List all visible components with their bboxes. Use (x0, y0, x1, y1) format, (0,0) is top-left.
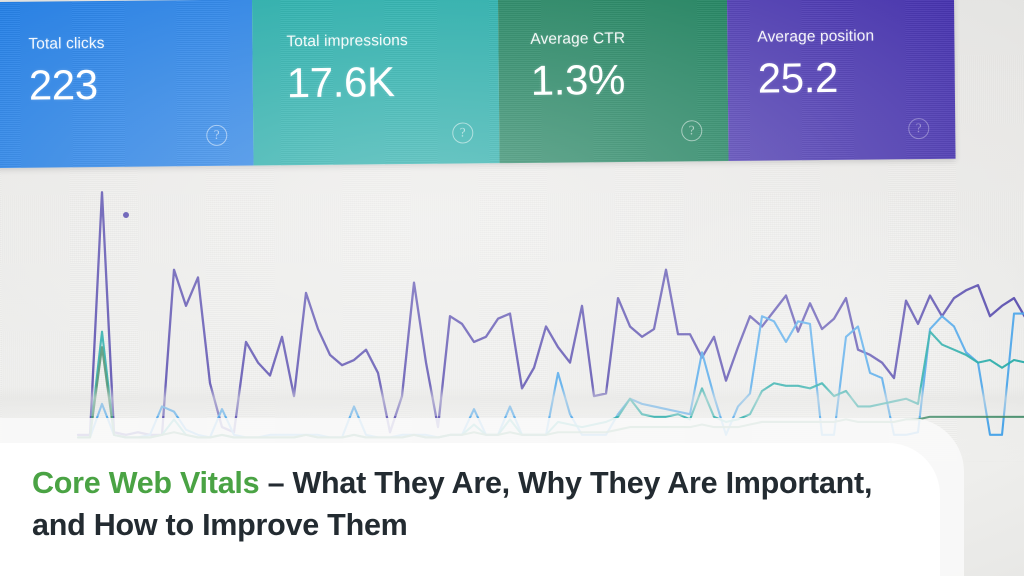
article-title: Core Web Vitals – What They Are, Why The… (32, 462, 932, 546)
help-icon-average-position[interactable]: ? (908, 118, 929, 139)
article-title-accent: Core Web Vitals (32, 466, 259, 500)
metric-card-total-clicks[interactable]: Total clicks 223 ? (0, 0, 254, 168)
metric-value-average-position: 25.2 (758, 56, 955, 101)
metric-card-average-ctr[interactable]: Average CTR 1.3% ? (498, 0, 729, 163)
metric-label-total-impressions: Total impressions (286, 31, 498, 51)
help-icon-total-impressions[interactable]: ? (452, 122, 473, 143)
metric-label-average-ctr: Average CTR (530, 29, 727, 49)
chart-stray-datapoint (123, 212, 129, 218)
performance-line-chart (0, 168, 1024, 453)
metric-value-average-ctr: 1.3% (531, 58, 728, 103)
metric-label-average-position: Average position (757, 27, 954, 47)
screenshot-stage: Total clicks 223 ? Total impressions 17.… (0, 0, 1024, 576)
chart-svg-canvas (0, 168, 1024, 453)
chart-series-impressions (78, 192, 1024, 435)
metric-card-total-impressions[interactable]: Total impressions 17.6K ? (252, 0, 500, 166)
performance-metric-cards: Total clicks 223 ? Total impressions 17.… (0, 0, 956, 168)
help-icon-total-clicks[interactable]: ? (206, 125, 227, 146)
help-icon-average-ctr[interactable]: ? (681, 120, 702, 141)
metric-value-total-impressions: 17.6K (287, 60, 499, 105)
metric-card-average-position[interactable]: Average position 25.2 ? (727, 0, 956, 161)
metric-label-total-clicks: Total clicks (28, 34, 252, 54)
metric-value-total-clicks: 223 (29, 63, 253, 108)
